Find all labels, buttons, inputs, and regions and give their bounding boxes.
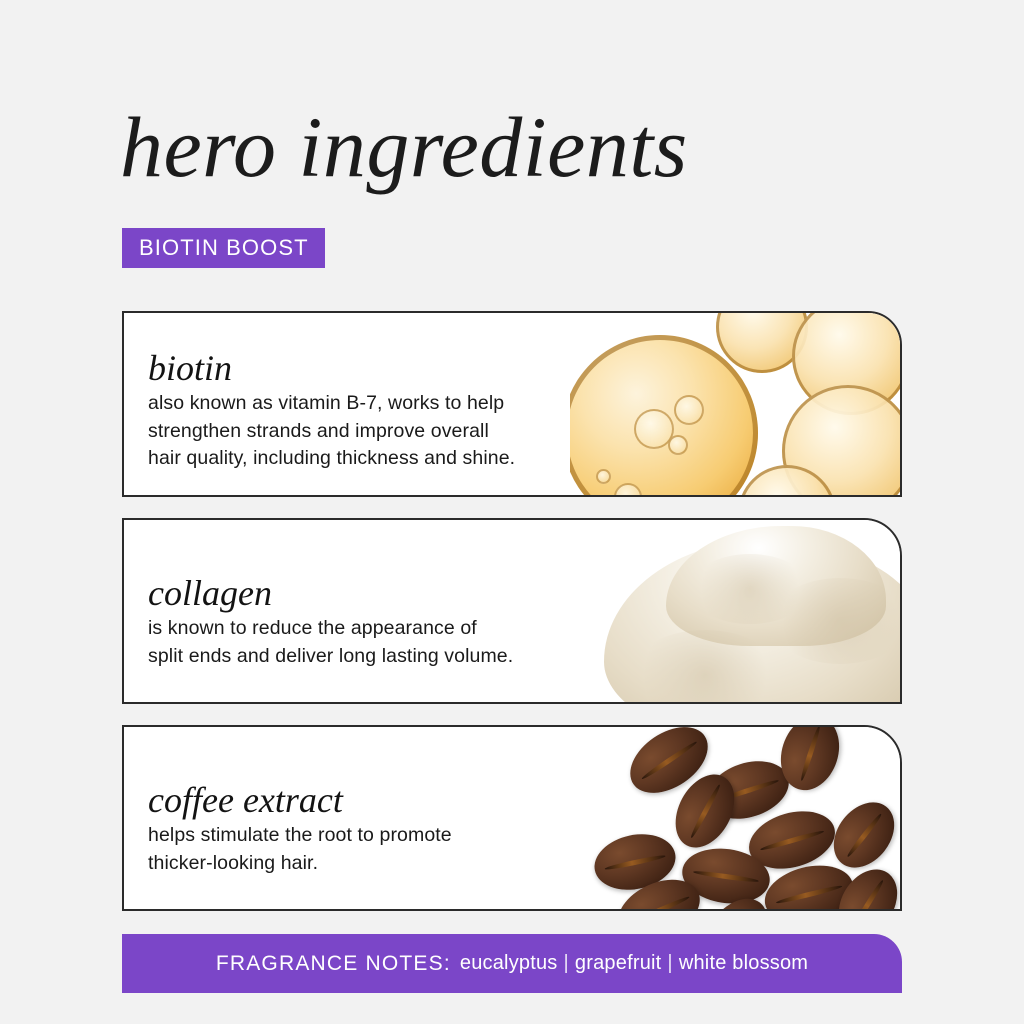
- tag-label: BIOTIN BOOST: [139, 235, 309, 261]
- ingredients-infographic: hero ingredients BIOTIN BOOST biotin als…: [0, 0, 1024, 1024]
- coffee-beans-photo: [570, 727, 900, 909]
- fragrance-note-1: eucalyptus: [460, 952, 558, 975]
- card-text-block: biotin also known as vitamin B-7, works …: [148, 349, 600, 473]
- ingredient-name: coffee extract: [148, 781, 600, 820]
- page-title: hero ingredients: [120, 104, 688, 190]
- fragrance-separator-1: |: [558, 952, 575, 975]
- fragrance-notes-bar: FRAGRANCE NOTES: eucalyptus | grapefruit…: [122, 934, 902, 993]
- ingredient-description: helps stimulate the root to promote thic…: [148, 822, 600, 877]
- fragrance-separator-2: |: [661, 952, 678, 975]
- card-text-block: collagen is known to reduce the appearan…: [148, 574, 600, 670]
- ingredient-description: is known to reduce the appearance of spl…: [148, 615, 600, 670]
- ingredient-card-coffee-extract: coffee extract helps stimulate the root …: [122, 725, 902, 911]
- fragrance-note-3: white blossom: [679, 952, 808, 975]
- card-text-block: coffee extract helps stimulate the root …: [148, 781, 600, 877]
- status-badge: BIOTIN BOOST: [122, 228, 325, 268]
- ingredient-card-biotin: biotin also known as vitamin B-7, works …: [122, 311, 902, 497]
- collagen-powder-photo: [570, 520, 900, 702]
- fragrance-note-2: grapefruit: [575, 952, 662, 975]
- ingredient-name: collagen: [148, 574, 600, 613]
- ingredient-card-collagen: collagen is known to reduce the appearan…: [122, 518, 902, 704]
- fragrance-notes-label: FRAGRANCE NOTES:: [216, 952, 451, 976]
- ingredient-description: also known as vitamin B-7, works to help…: [148, 390, 600, 473]
- golden-oil-droplets-photo: [570, 313, 900, 495]
- ingredient-name: biotin: [148, 349, 600, 388]
